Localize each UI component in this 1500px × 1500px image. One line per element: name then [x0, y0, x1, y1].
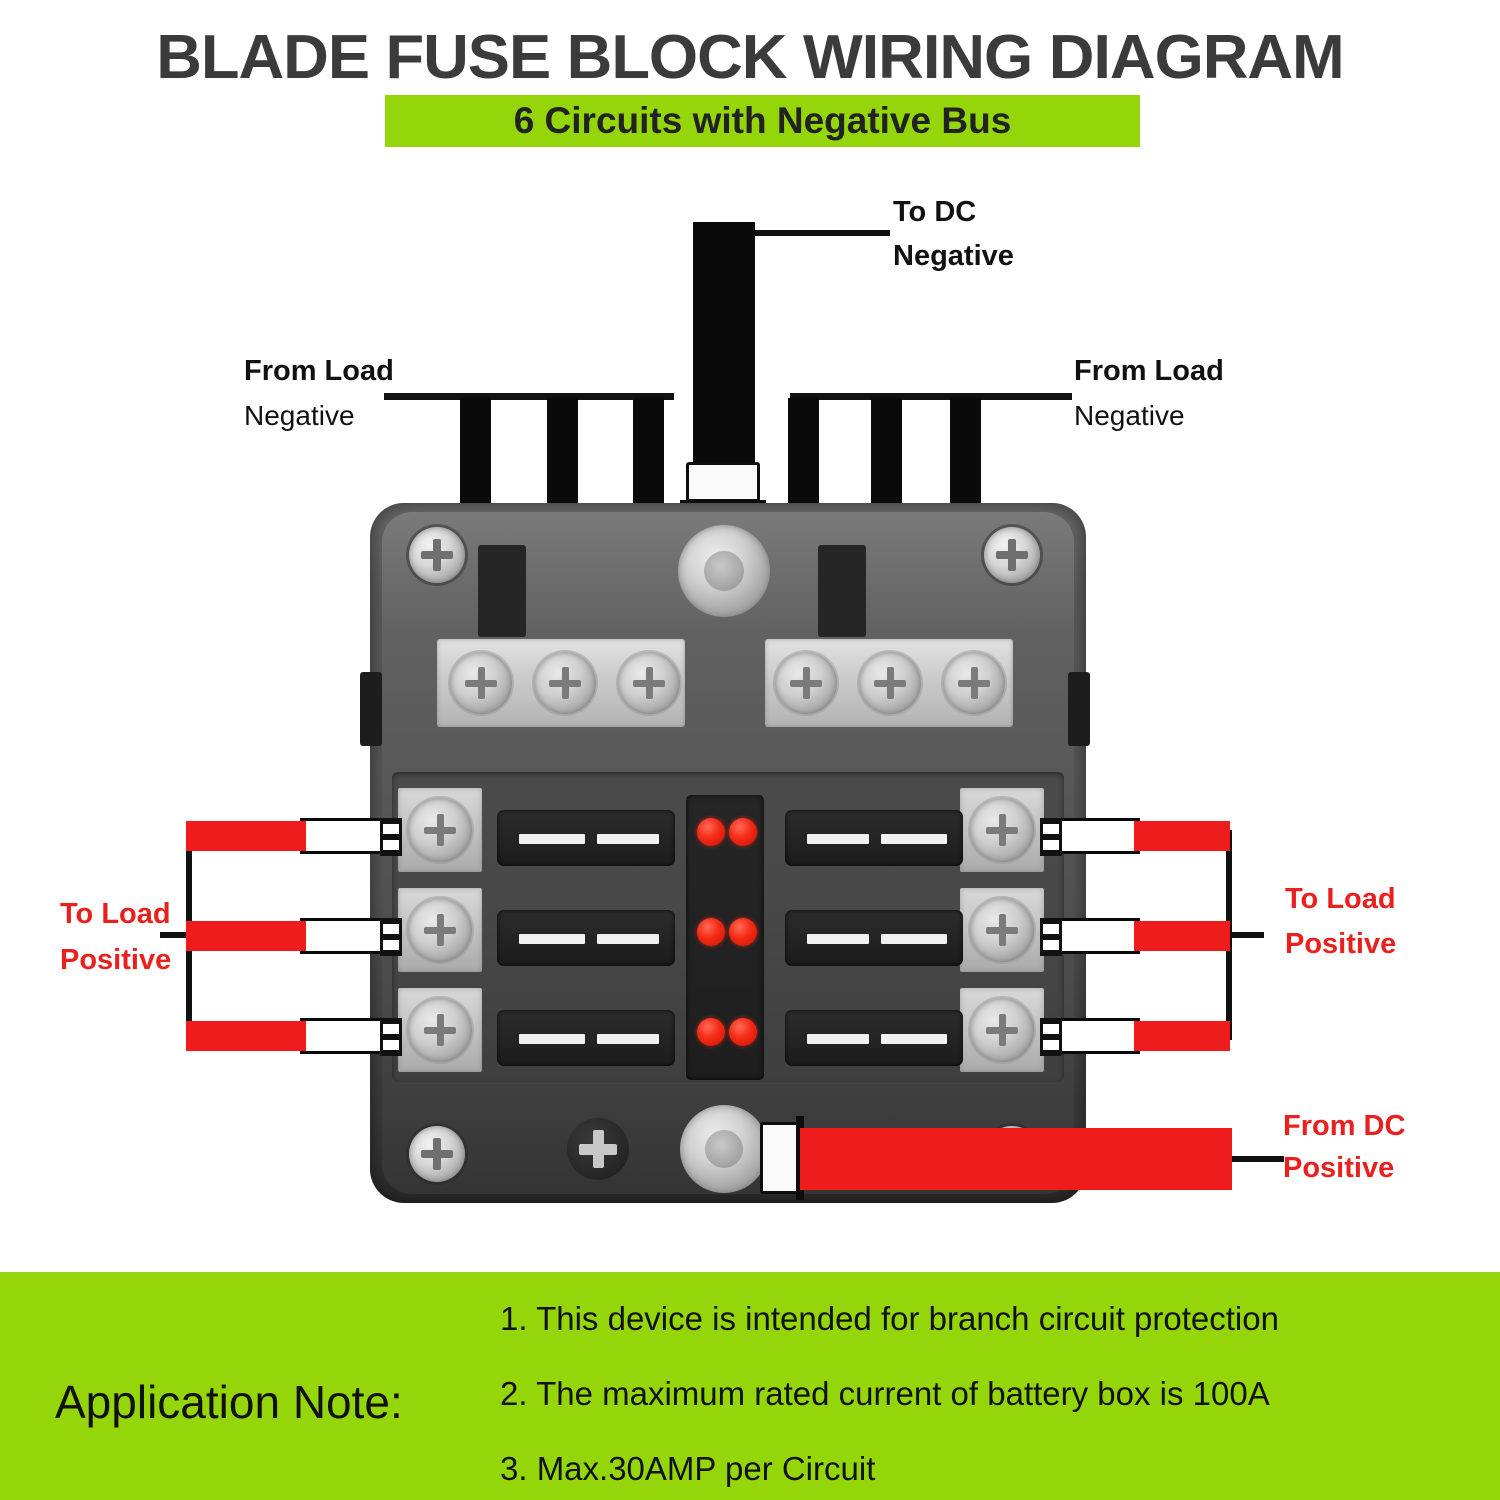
screw-slot-vertical [593, 1130, 604, 1168]
bus-screw-left-2[interactable] [534, 652, 596, 714]
fuse-blade-contact [519, 1034, 585, 1044]
screw-slot-vertical [562, 667, 569, 699]
positive-input-stud-core [705, 1130, 743, 1168]
led-indicator-3 [697, 918, 725, 946]
to-dc-negative-label-line2: Negative [893, 240, 1014, 273]
positive-input-ferrule [760, 1122, 800, 1194]
positive-screw-right-3[interactable] [970, 998, 1034, 1062]
terminal-contact-left-3b [383, 1040, 399, 1050]
negative-bus-stud-core [704, 551, 744, 591]
screw-slot-vertical [437, 914, 444, 946]
fuse-slot-left-1[interactable] [497, 810, 675, 866]
fuse-blade-contact [807, 834, 869, 844]
ground-screw[interactable] [567, 1118, 629, 1180]
from-load-right-label-line1: From Load [1074, 355, 1224, 388]
fuse-slot-right-2[interactable] [785, 910, 963, 966]
to-dc-negative-label-line1: To DC [893, 196, 976, 229]
application-note-title: Application Note: [55, 1375, 403, 1429]
led-indicator-1 [697, 818, 725, 846]
mounting-tab-right [1068, 672, 1090, 746]
positive-wire-right-2 [1134, 921, 1230, 951]
fuse-blade-contact [519, 834, 585, 844]
fuse-slot-left-2[interactable] [497, 910, 675, 966]
dc-positive-main-cable [800, 1128, 1232, 1190]
positive-screw-right-1[interactable] [970, 798, 1034, 862]
led-indicator-6 [729, 1018, 757, 1046]
fuse-blade-contact [807, 934, 869, 944]
fuse-blade-contact [519, 934, 585, 944]
mounting-tab-left [360, 672, 382, 746]
fuse-slot-right-3[interactable] [785, 1010, 963, 1066]
terminal-contact-left-2b [383, 940, 399, 950]
terminal-contact-right-3b [1043, 1040, 1059, 1050]
screw-slot-vertical [437, 1014, 444, 1046]
positive-screw-left-1[interactable] [408, 798, 472, 862]
corner-screw-top-left [409, 527, 465, 583]
negative-bus-stud [678, 525, 770, 617]
fuse-slot-left-3[interactable] [497, 1010, 675, 1066]
fuse-blade-contact [597, 934, 659, 944]
bus-screw-left-1[interactable] [450, 652, 512, 714]
positive-screw-left-2[interactable] [408, 898, 472, 962]
from-dc-positive-label-line1: From DC [1283, 1110, 1405, 1143]
positive-screw-right-2[interactable] [970, 898, 1034, 962]
from-dc-positive-label-line2: Positive [1283, 1152, 1394, 1185]
screw-slot-vertical [1008, 539, 1016, 571]
fuse-blade-contact [807, 1034, 869, 1044]
screw-slot-vertical [803, 667, 810, 699]
corner-screw-top-right [984, 527, 1040, 583]
terminal-contact-right-3a [1043, 1024, 1059, 1034]
bus-screw-left-3[interactable] [618, 652, 680, 714]
subtitle-band: 6 Circuits with Negative Bus [385, 95, 1140, 147]
led-indicator-4 [729, 918, 757, 946]
fuse-blade-contact [881, 834, 947, 844]
fuse-blade-contact [881, 1034, 947, 1044]
housing-notch-left [478, 545, 526, 637]
fuse-blade-contact [881, 934, 947, 944]
led-indicator-2 [729, 818, 757, 846]
screw-slot-vertical [999, 814, 1006, 846]
terminal-contact-right-2b [1043, 940, 1059, 950]
from-load-left-label-line1: From Load [244, 355, 394, 388]
positive-wire-right-1 [1134, 821, 1230, 851]
positive-wire-left-2 [186, 921, 306, 951]
page-subtitle: 6 Circuits with Negative Bus [385, 95, 1140, 147]
fuse-blade-contact [597, 1034, 659, 1044]
bus-screw-right-3[interactable] [943, 652, 1005, 714]
to-load-left-label-line1: To Load [60, 898, 171, 931]
application-note-1: 1. This device is intended for branch ci… [500, 1300, 1279, 1338]
terminal-contact-left-3a [383, 1024, 399, 1034]
fuse-blade-contact [597, 834, 659, 844]
terminal-contact-left-1b [383, 840, 399, 850]
terminal-contact-left-2a [383, 924, 399, 934]
screw-slot-vertical [437, 814, 444, 846]
screw-slot-vertical [478, 667, 485, 699]
application-note-3: 3. Max.30AMP per Circuit [500, 1450, 875, 1488]
terminal-contact-right-2a [1043, 924, 1059, 934]
dc-negative-main-cable [693, 222, 755, 467]
to-load-right-label-line1: To Load [1285, 883, 1396, 916]
from-dc-positive-leader [1232, 1156, 1284, 1162]
from-load-left-leader [384, 393, 674, 400]
to-load-left-label-line2: Positive [60, 944, 171, 977]
from-load-right-label-line2: Negative [1074, 400, 1185, 432]
terminal-contact-left-1a [383, 824, 399, 834]
screw-slot-vertical [646, 667, 653, 699]
screw-slot-vertical [971, 667, 978, 699]
dc-negative-ferrule [686, 462, 760, 502]
positive-input-stud [680, 1105, 768, 1193]
bus-screw-right-1[interactable] [775, 652, 837, 714]
to-load-right-bracket-stub [1230, 932, 1264, 938]
screw-slot-vertical [433, 539, 441, 571]
positive-wire-right-3 [1134, 1021, 1230, 1051]
fuse-slot-right-1[interactable] [785, 810, 963, 866]
led-indicator-5 [697, 1018, 725, 1046]
screw-slot-vertical [887, 667, 894, 699]
from-load-right-leader [790, 393, 1072, 400]
screw-slot-vertical [433, 1138, 441, 1170]
to-load-right-label-line2: Positive [1285, 928, 1396, 961]
terminal-contact-right-1b [1043, 840, 1059, 850]
application-note-2: 2. The maximum rated current of battery … [500, 1375, 1270, 1413]
screw-slot-vertical [999, 1014, 1006, 1046]
to-dc-negative-leader [750, 230, 890, 236]
from-load-left-label-line2: Negative [244, 400, 355, 432]
screw-slot-vertical [999, 914, 1006, 946]
corner-screw-bottom-left [409, 1126, 465, 1182]
positive-wire-left-3 [186, 1021, 306, 1051]
bus-screw-right-2[interactable] [859, 652, 921, 714]
page-title: BLADE FUSE BLOCK WIRING DIAGRAM [0, 22, 1500, 93]
positive-screw-left-3[interactable] [408, 998, 472, 1062]
positive-wire-left-1 [186, 821, 306, 851]
terminal-contact-right-1a [1043, 824, 1059, 834]
housing-notch-right [818, 545, 866, 637]
